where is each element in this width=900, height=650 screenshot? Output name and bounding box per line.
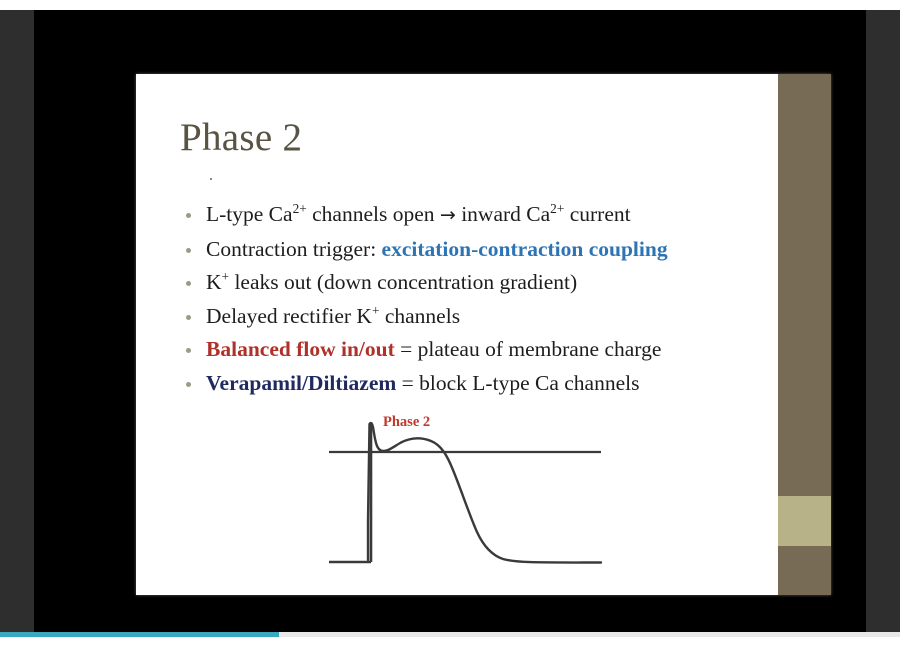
slide-decor-bar-lower <box>778 546 831 595</box>
list-item-delayed-rectifier: Delayed rectifier K+ channels <box>180 300 780 334</box>
right-arrow-icon: → <box>440 204 456 226</box>
cardiac-action-potential-figure: Phase 2 <box>321 410 621 590</box>
text-run: = block L-type Ca channels <box>396 371 639 395</box>
player-top-margin <box>0 0 900 10</box>
stray-period-mark <box>210 178 212 180</box>
player-left-letterbox <box>0 10 34 632</box>
action-potential-trace <box>368 423 601 562</box>
superscript-charge: 2+ <box>550 201 564 216</box>
figure-phase-label: Phase 2 <box>383 414 430 431</box>
text-run: Contraction trigger: <box>206 237 382 261</box>
slide-decor-bar-upper <box>778 74 831 496</box>
list-item-calcium-blockers: Verapamil/Diltiazem = block L-type Ca ch… <box>180 367 780 401</box>
list-item-l-type-calcium: L-type Ca2+ channels open → inward Ca2+ … <box>180 198 780 233</box>
action-potential-svg <box>321 410 621 590</box>
bullet-list: L-type Ca2+ channels open → inward Ca2+ … <box>180 198 780 400</box>
emphasis-text: Verapamil/Diltiazem <box>206 371 396 395</box>
player-right-letterbox <box>866 10 900 632</box>
text-run: inward Ca <box>456 202 550 226</box>
emphasis-text: excitation-contraction coupling <box>382 237 668 261</box>
text-run: channels open <box>307 202 440 226</box>
video-player-screen: Phase 2 L-type Ca2+ channels open → inwa… <box>0 0 900 650</box>
slide-decor-bar-accent <box>778 496 831 546</box>
text-run: channels <box>379 304 460 328</box>
text-run: L-type Ca <box>206 202 293 226</box>
text-run: current <box>564 202 630 226</box>
superscript-charge: 2+ <box>293 201 307 216</box>
text-run: Delayed rectifier K <box>206 304 372 328</box>
text-run: leaks out (down concentration gradient) <box>229 270 577 294</box>
text-run: = plateau of membrane charge <box>395 337 662 361</box>
player-bottom-margin <box>0 637 900 650</box>
text-run: K <box>206 270 222 294</box>
presentation-slide: Phase 2 L-type Ca2+ channels open → inwa… <box>136 74 831 595</box>
emphasis-text: Balanced flow in/out <box>206 337 395 361</box>
video-stage[interactable]: Phase 2 L-type Ca2+ channels open → inwa… <box>34 10 866 632</box>
superscript-charge: + <box>222 269 230 284</box>
page-title: Phase 2 <box>180 115 302 160</box>
list-item-contraction-trigger: Contraction trigger: excitation-contract… <box>180 233 780 267</box>
list-item-potassium-leak: K+ leaks out (down concentration gradien… <box>180 266 780 300</box>
list-item-balanced-flow: Balanced flow in/out = plateau of membra… <box>180 333 780 367</box>
